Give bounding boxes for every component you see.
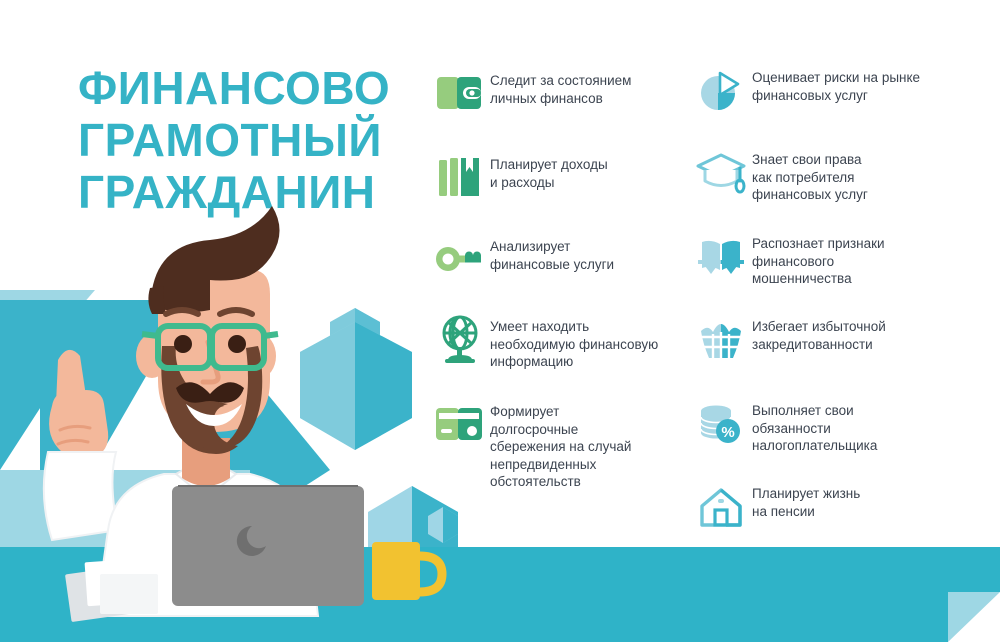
list-item: Избегает избыточной закредитованности (690, 311, 886, 369)
list-item-label: Анализирует финансовые услуги (490, 230, 614, 273)
laptop (172, 486, 364, 606)
coins-percent-icon: % (690, 395, 752, 453)
pointing-hand (49, 350, 108, 460)
poster-title: ФИНАНСОВО ГРАМОТНЫЙ ГРАЖДАНИН (78, 62, 438, 218)
title-line-3: ГРАЖДАНИН (78, 166, 438, 218)
graduation-cap-icon (690, 144, 752, 202)
list-item: Планирует жизнь на пенсии (690, 478, 860, 536)
list-item-label: Распознает признаки финансового мошеннич… (752, 228, 885, 288)
infographic-poster: ФИНАНСОВО ГРАМОТНЫЙ ГРАЖДАНИН (0, 0, 1000, 642)
list-item-label: Знает свои права как потребителя финансо… (752, 144, 868, 204)
list-item-label: Избегает избыточной закредитованности (752, 311, 886, 353)
globe-icon (428, 310, 490, 368)
list-item-label: Следит за состоянием личных финансов (490, 64, 631, 107)
credit-card-icon (428, 395, 490, 453)
list-item: Следит за состоянием личных финансов (428, 64, 631, 122)
list-item-label: Планирует доходы и расходы (490, 148, 608, 191)
list-item-label: Формирует долгосрочные сбережения на слу… (490, 395, 631, 491)
list-item-label: Оценивает риски на рынке финансовых услу… (752, 62, 920, 104)
pie-chart-icon (690, 62, 752, 120)
key-icon (428, 230, 490, 288)
wallet-icon (428, 64, 490, 122)
eye-right (228, 335, 246, 353)
list-item: Распознает признаки финансового мошеннич… (690, 228, 885, 288)
list-item-label: Выполняет свои обязанности налогоплатель… (752, 395, 877, 455)
open-book-icon (690, 228, 752, 286)
svg-text:%: % (721, 424, 734, 441)
house-icon (690, 478, 752, 536)
list-item: Умеет находить необходимую финансовую ин… (428, 310, 658, 371)
list-item: Оценивает риски на рынке финансовых услу… (690, 62, 920, 120)
list-item: Планирует доходы и расходы (428, 148, 608, 206)
books-icon (428, 148, 490, 206)
corner-accent-bottom-right (900, 570, 1000, 642)
list-item: Анализирует финансовые услуги (428, 230, 614, 288)
character-illustration (0, 230, 480, 642)
shopping-basket-icon (690, 311, 752, 369)
list-item-label: Умеет находить необходимую финансовую ин… (490, 310, 658, 371)
list-item: Формирует долгосрочные сбережения на слу… (428, 395, 631, 491)
title-line-2: ГРАМОТНЫЙ (78, 114, 438, 166)
coffee-mug (372, 542, 442, 600)
list-item: % Выполняет свои обязанности налогоплате… (690, 395, 877, 455)
eye-left (174, 335, 192, 353)
title-line-1: ФИНАНСОВО (78, 62, 438, 114)
sleeve-left (44, 452, 118, 540)
list-item-label: Планирует жизнь на пенсии (752, 478, 860, 520)
paper-sheets (65, 558, 158, 622)
list-item: Знает свои права как потребителя финансо… (690, 144, 868, 204)
